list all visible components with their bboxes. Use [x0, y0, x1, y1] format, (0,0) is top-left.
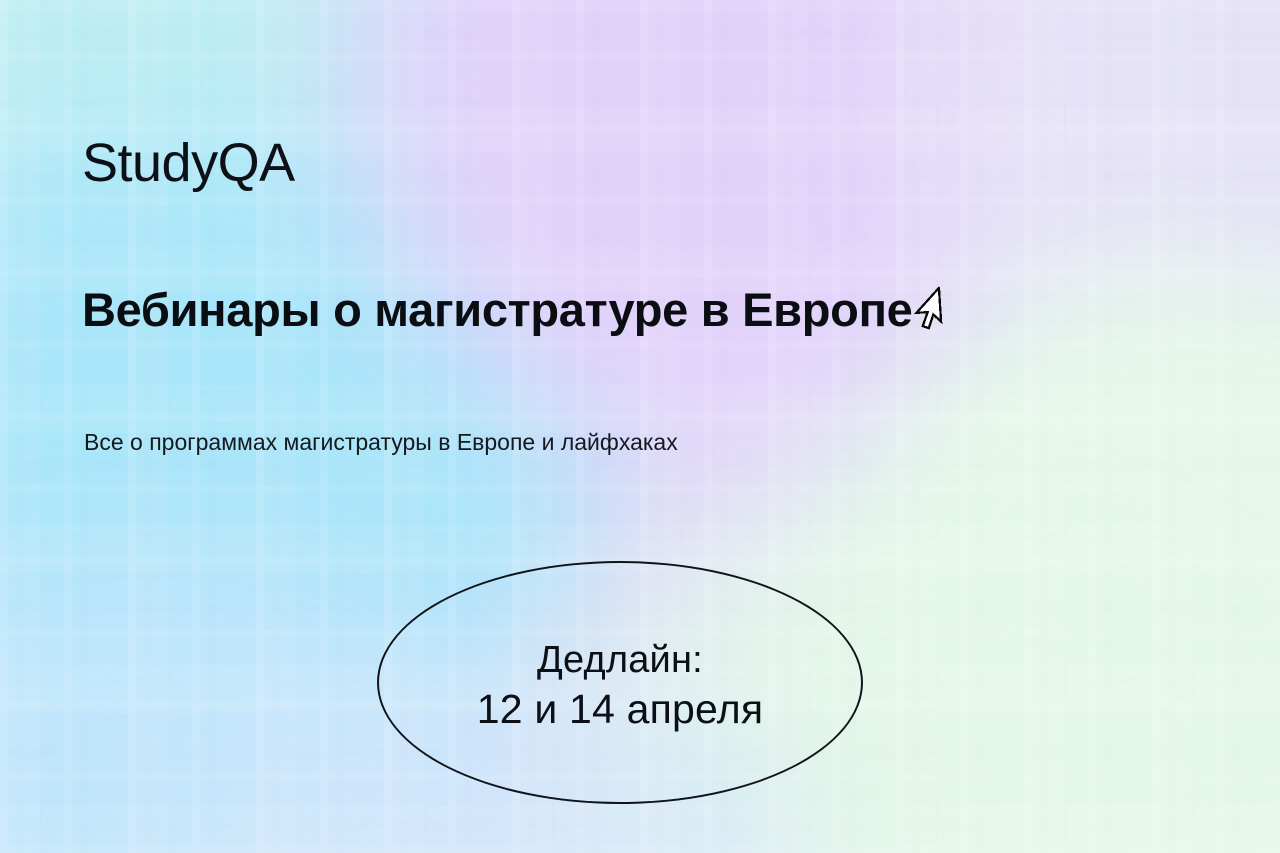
deadline-dates: 12 и 14 апреля	[477, 685, 763, 733]
page-title: Вебинары о магистратуре в Европе	[82, 285, 967, 335]
page-title-text: Вебинары о магистратуре в Европе	[82, 285, 913, 334]
mouse-pointer-arrow-icon	[903, 281, 965, 343]
deadline-badge: Дедлайн: 12 и 14 апреля	[377, 561, 863, 804]
page-subtitle: Все о программах магистратуры в Европе и…	[84, 428, 678, 458]
brand-logo: StudyQA	[82, 136, 295, 190]
poster-content: StudyQA Вебинары о магистратуре в Европе…	[0, 0, 1280, 853]
deadline-text-group: Дедлайн: 12 и 14 апреля	[377, 561, 863, 804]
deadline-label: Дедлайн:	[537, 638, 703, 683]
promo-poster: StudyQA Вебинары о магистратуре в Европе…	[0, 0, 1280, 853]
